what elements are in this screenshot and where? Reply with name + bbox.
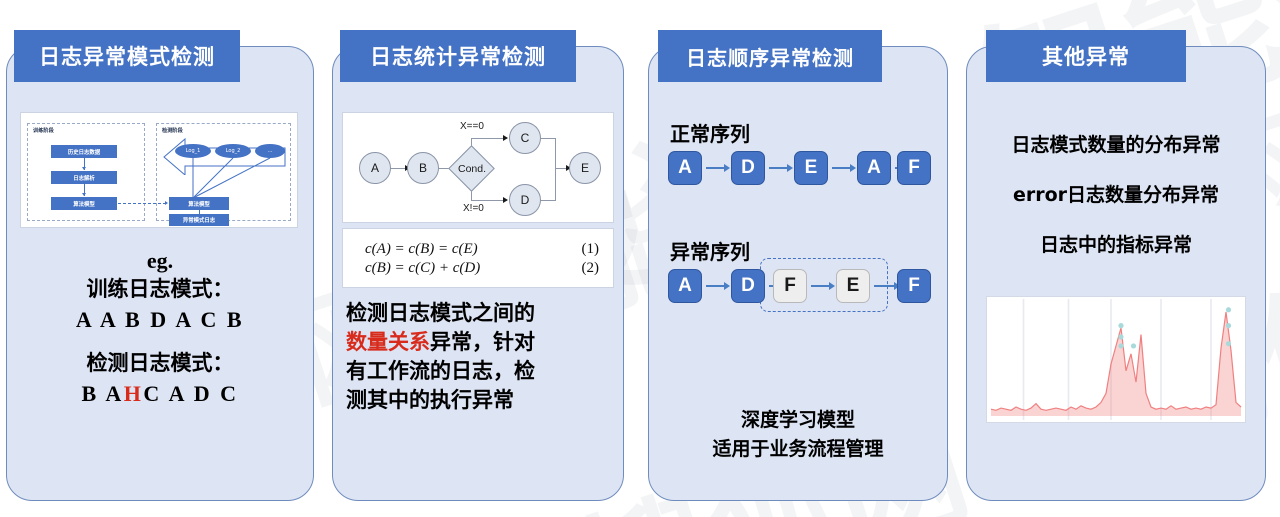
- panel-3-content: 正常序列 A D E A F 异常序列 A D F E F 深度学习模型 适用于…: [648, 46, 948, 501]
- panel-header-log-pattern-anomaly[interactable]: 日志异常模式检测: [14, 30, 240, 82]
- arrow-down-icon: [82, 167, 86, 170]
- arrow-right-icon: [832, 167, 851, 169]
- flow-node-a: A: [359, 152, 391, 184]
- panel-header-other-anomaly[interactable]: 其他异常: [986, 30, 1186, 82]
- edge-label-x-not-equals-zero: X!=0: [463, 203, 484, 214]
- arrow-right-icon: [874, 285, 895, 287]
- abnormal-seq-box-1: A: [668, 269, 702, 303]
- abnormal-seq-box-2: D: [731, 269, 765, 303]
- other-anomaly-line-1: 日志模式数量的分布异常: [966, 130, 1266, 157]
- chart-area-fill: [991, 312, 1241, 416]
- equation-row: c(B) = c(C) + c(D) (2): [365, 260, 599, 277]
- log-to-model-connectors: [161, 153, 291, 201]
- abnormal-seq-box-4-ghost: E: [836, 269, 870, 303]
- normal-seq-box-2: D: [731, 151, 765, 185]
- equation-number: (2): [582, 260, 600, 277]
- description-line: 测其中的执行异常: [346, 386, 614, 415]
- detect-pattern-anomaly-char: H: [124, 381, 144, 406]
- flow-node-c: C: [509, 122, 541, 154]
- normal-seq-box-5: F: [897, 151, 931, 185]
- training-phase-label: 训练阶段: [33, 127, 54, 134]
- description-line: 数量关系异常，针对: [346, 328, 614, 357]
- other-anomaly-line-3: 日志中的指标异常: [966, 230, 1266, 257]
- normal-seq-box-1: A: [668, 151, 702, 185]
- panel-2-content: A B Cond. C D E X==0 X!=0 c(A) = c(B) = …: [332, 46, 624, 501]
- arrow-right-icon: [503, 135, 508, 141]
- example-label: eg.: [6, 246, 314, 275]
- edge-cond-c-horizontal: [471, 138, 507, 139]
- detect-pattern-suffix: C A D C: [143, 381, 238, 406]
- edge-label-x-equals-zero: X==0: [460, 121, 484, 132]
- normal-sequence-title: 正常序列: [670, 118, 750, 147]
- description-line: 检测日志模式之间的: [346, 299, 614, 328]
- description-line: 适用于业务流程管理: [648, 435, 948, 464]
- flow-node-e: E: [569, 152, 601, 184]
- equation-expression: c(B) = c(C) + c(D): [365, 260, 480, 277]
- equation-expression: c(A) = c(B) = c(E): [365, 241, 478, 258]
- training-node-log-parse: 日志解析: [51, 171, 117, 184]
- abnormal-sequence-title: 异常序列: [670, 236, 750, 265]
- edge-cond-d-horizontal: [471, 200, 507, 201]
- normal-seq-box-3: E: [794, 151, 828, 185]
- panel-4-content: 日志模式数量的分布异常 error日志数量分布异常 日志中的指标异常: [966, 46, 1266, 501]
- chart-anomaly-markers: [1118, 307, 1231, 348]
- edge-d-merge: [540, 200, 556, 201]
- equation-number: (1): [582, 241, 600, 258]
- workflow-flowchart: A B Cond. C D E X==0 X!=0: [342, 112, 614, 223]
- panel-header-log-sequence-anomaly[interactable]: 日志顺序异常检测: [658, 30, 882, 82]
- train-pattern-label: 训练日志模式：: [6, 276, 314, 304]
- slide-board: 搜狐网 智能信息 搜狐网 智能信息 搜狐网 智能信息 搜狐网 智能信息 日志异常…: [0, 0, 1280, 517]
- description-highlight: 数量关系: [346, 330, 430, 354]
- abnormal-seq-box-3-ghost: F: [773, 269, 807, 303]
- description-line: 有工作流的日志，检: [346, 357, 614, 386]
- arrow-right-icon: [503, 197, 508, 203]
- training-detection-diagram: 训练阶段 历史日志数据 日志解析 算法模型 检测阶段 Log_1 Log_2 .…: [20, 112, 298, 228]
- abnormal-seq-box-5: F: [897, 269, 931, 303]
- equations-card: c(A) = c(B) = c(E) (1) c(B) = c(C) + c(D…: [342, 228, 614, 288]
- flow-node-d: D: [509, 184, 541, 216]
- panel-1-content: 训练阶段 历史日志数据 日志解析 算法模型 检测阶段 Log_1 Log_2 .…: [6, 46, 314, 501]
- detect-pattern-value: B AHC A D C: [6, 379, 314, 408]
- detection-phase-label: 检测阶段: [162, 127, 183, 134]
- normal-seq-box-4: A: [857, 151, 891, 185]
- metric-chart-svg: [987, 297, 1245, 422]
- arrow-right-icon: [769, 167, 788, 169]
- panel-2-description: 检测日志模式之间的 数量关系异常，针对 有工作流的日志，检 测其中的执行异常: [346, 299, 614, 415]
- arrow-right-icon: [706, 167, 725, 169]
- detection-node-anomaly-pattern-log: 异常模式日志: [169, 214, 229, 226]
- panel-1-example-text: eg. 训练日志模式： A A B D A C B 检测日志模式： B AHC …: [6, 246, 314, 409]
- arrow-right-icon: [811, 285, 830, 287]
- metric-anomaly-chart: [986, 296, 1246, 423]
- equation-row: c(A) = c(B) = c(E) (1): [365, 241, 599, 258]
- other-anomaly-line-2: error日志数量分布异常: [966, 180, 1266, 207]
- detect-pattern-prefix: B A: [81, 381, 123, 406]
- train-pattern-value: A A B D A C B: [6, 305, 314, 334]
- description-line: 深度学习模型: [648, 406, 948, 435]
- detection-node-algorithm-model: 算法模型: [169, 197, 229, 210]
- flow-node-b: B: [407, 152, 439, 184]
- edge-c-merge: [540, 138, 556, 139]
- arrow-right-icon: [706, 285, 725, 287]
- detect-pattern-label: 检测日志模式：: [6, 350, 314, 378]
- edge-cd-merge: [555, 138, 556, 201]
- panel-header-log-statistic-anomaly[interactable]: 日志统计异常检测: [340, 30, 576, 82]
- panel-3-description: 深度学习模型 适用于业务流程管理: [648, 406, 948, 463]
- description-highlight-suffix: 异常，针对: [430, 330, 535, 354]
- training-node-algorithm-model: 算法模型: [51, 197, 117, 210]
- flow-node-condition-label: Cond.: [448, 161, 496, 177]
- training-node-history-log-data: 历史日志数据: [51, 145, 117, 158]
- arrow-down-icon: [82, 193, 86, 196]
